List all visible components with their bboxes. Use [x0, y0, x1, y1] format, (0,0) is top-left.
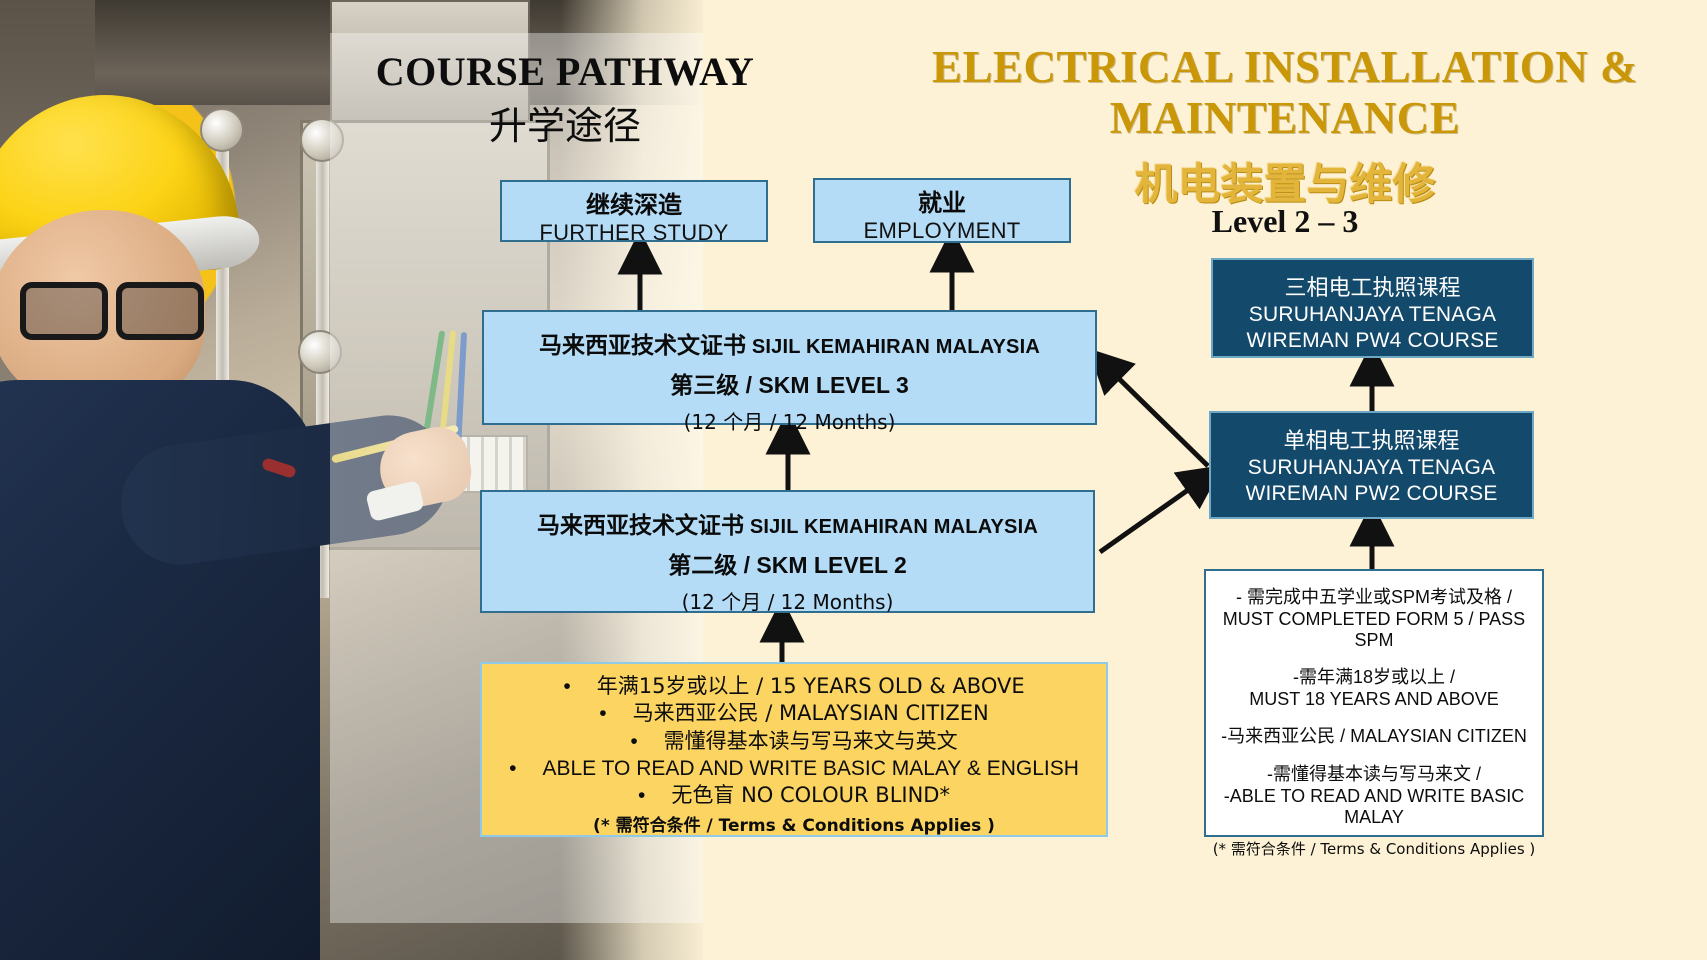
- requirement-item: •年满15岁或以上 / 15 YEARS OLD & ABOVE: [482, 673, 1106, 700]
- entry-requirements-box-right[interactable]: - 需完成中五学业或SPM考试及格 / MUST COMPLETED FORM …: [1204, 569, 1544, 837]
- bullet-icon: •: [563, 675, 570, 698]
- outcome-box-employment[interactable]: 就业 EMPLOYMENT: [813, 178, 1071, 243]
- outcome-label-chinese: 就业: [815, 183, 1069, 218]
- licence-course-box-pw4[interactable]: 三相电工执照课程 SURUHANJAYA TENAGA WIREMAN PW4 …: [1211, 258, 1534, 358]
- spacer: [1206, 748, 1542, 760]
- qualification-box-skm-level-3[interactable]: 马来西亚技术文证书 SIJIL KEMAHIRAN MALAYSIA 第三级 /…: [482, 310, 1097, 425]
- bullet-icon: •: [509, 757, 516, 780]
- page-title-course-pathway: COURSE PATHWAY: [330, 48, 800, 95]
- qualification-name-row: 马来西亚技术文证书 SIJIL KEMAHIRAN MALAYSIA: [482, 506, 1093, 540]
- qualification-level-chinese: 第二级: [668, 553, 737, 579]
- licence-course-name: WIREMAN PW2 COURSE: [1211, 481, 1532, 507]
- licence-course-title-chinese: 单相电工执照课程: [1211, 423, 1532, 455]
- spacer: [1206, 651, 1542, 663]
- qualification-duration: (12 个月 / 12 Months): [482, 586, 1093, 615]
- licence-course-box-pw2[interactable]: 单相电工执照课程 SURUHANJAYA TENAGA WIREMAN PW2 …: [1209, 411, 1534, 519]
- outcome-label-chinese: 继续深造: [502, 185, 766, 220]
- arrow-skm2-to-pw2: [1100, 478, 1205, 552]
- entry-requirements-box-left[interactable]: •年满15岁或以上 / 15 YEARS OLD & ABOVE •马来西亚公民…: [480, 662, 1108, 837]
- qualification-name-chinese: 马来西亚技术文证书: [539, 333, 746, 359]
- licence-course-title-chinese: 三相电工执照课程: [1213, 270, 1532, 302]
- page-title-program: ELECTRICAL INSTALLATION & MAINTENANCE: [890, 42, 1680, 144]
- requirement-item-english: MUST 18 YEARS AND ABOVE: [1206, 689, 1542, 710]
- qualification-level-row: 第二级 / SKM LEVEL 2: [482, 546, 1093, 580]
- requirement-item-chinese: -需懂得基本读与写马来文 /: [1206, 760, 1542, 786]
- terms-and-conditions-note: (* 需符合条件 / Terms & Conditions Applies ): [1206, 838, 1542, 859]
- requirement-item: •需懂得基本读与写马来文与英文: [482, 728, 1106, 755]
- qualification-level-english: SKM LEVEL 3: [758, 372, 908, 398]
- qualification-level-row: 第三级 / SKM LEVEL 3: [484, 366, 1095, 400]
- qualification-level-english: SKM LEVEL 2: [756, 552, 906, 578]
- licence-course-authority: SURUHANJAYA TENAGA: [1213, 302, 1532, 328]
- requirement-item-english: MUST COMPLETED FORM 5 / PASS SPM: [1206, 609, 1542, 651]
- qualification-name-english: SIJIL KEMAHIRAN MALAYSIA: [750, 516, 1038, 538]
- qualification-name-chinese: 马来西亚技术文证书: [537, 513, 744, 539]
- qualification-name-english: SIJIL KEMAHIRAN MALAYSIA: [752, 336, 1040, 358]
- bullet-icon: •: [630, 730, 637, 753]
- page-title-course-pathway-chinese: 升学途径: [330, 95, 800, 150]
- outcome-label-english: FURTHER STUDY: [502, 220, 766, 246]
- requirement-item-english: -ABLE TO READ AND WRITE BASIC MALAY: [1206, 786, 1542, 828]
- requirement-item-chinese: -马来西亚公民 / MALAYSIAN CITIZEN: [1206, 722, 1542, 748]
- bullet-icon: •: [599, 702, 606, 725]
- bullet-icon: •: [638, 784, 645, 807]
- requirement-item: •马来西亚公民 / MALAYSIAN CITIZEN: [482, 700, 1106, 727]
- requirement-item: •ABLE TO READ AND WRITE BASIC MALAY & EN…: [482, 755, 1106, 782]
- requirement-item-chinese: - 需完成中五学业或SPM考试及格 /: [1206, 583, 1542, 609]
- outcome-box-further-study[interactable]: 继续深造 FURTHER STUDY: [500, 180, 768, 242]
- arrow-pw2-to-skm3: [1104, 364, 1208, 466]
- licence-course-authority: SURUHANJAYA TENAGA: [1211, 455, 1532, 481]
- qualification-name-row: 马来西亚技术文证书 SIJIL KEMAHIRAN MALAYSIA: [484, 326, 1095, 360]
- qualification-duration: (12 个月 / 12 Months): [484, 406, 1095, 435]
- qualification-box-skm-level-2[interactable]: 马来西亚技术文证书 SIJIL KEMAHIRAN MALAYSIA 第二级 /…: [480, 490, 1095, 613]
- spacer: [1206, 710, 1542, 722]
- pathway-infographic: COURSE PATHWAY 升学途径 ELECTRICAL INSTALLAT…: [0, 0, 1707, 960]
- licence-course-name: WIREMAN PW4 COURSE: [1213, 328, 1532, 354]
- photo-eyeglasses: [20, 282, 205, 330]
- qualification-level-chinese: 第三级: [670, 373, 739, 399]
- requirement-item: •无色盲 NO COLOUR BLIND*: [482, 782, 1106, 809]
- terms-and-conditions-note: (* 需符合条件 / Terms & Conditions Applies ): [482, 811, 1106, 836]
- outcome-label-english: EMPLOYMENT: [815, 218, 1069, 244]
- requirement-item-chinese: -需年满18岁或以上 /: [1206, 663, 1542, 689]
